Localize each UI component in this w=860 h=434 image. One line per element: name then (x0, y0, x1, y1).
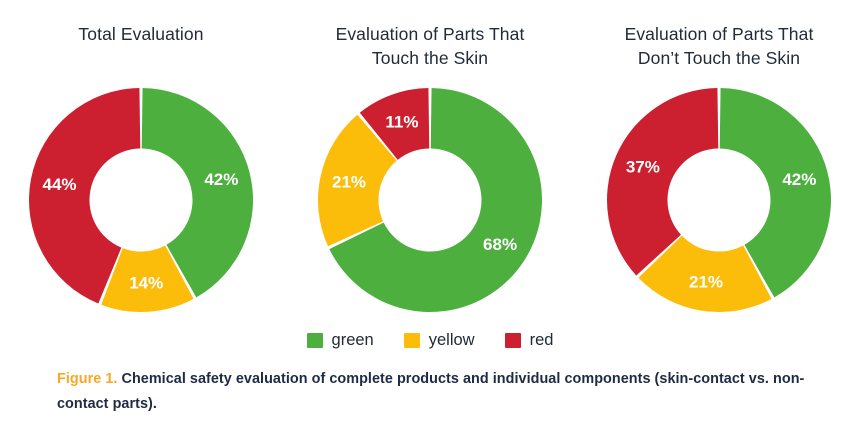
donut-charts-row: Total Evaluation 42%14%44% Evaluation of… (0, 0, 860, 322)
donut-slice-label: 21% (689, 272, 723, 291)
legend-label: yellow (429, 331, 475, 349)
figure-caption: Figure 1. Chemical safety evaluation of … (57, 367, 817, 417)
legend-item-green: green (307, 331, 374, 349)
legend-swatch-green (307, 333, 323, 348)
chart-title: Total Evaluation (16, 22, 266, 46)
legend-swatch-red (505, 333, 521, 348)
legend-swatch-yellow (404, 333, 420, 348)
donut-graphic: 42%21%37% (605, 86, 833, 314)
chart-title: Evaluation of Parts That Don’t Touch the… (594, 22, 844, 70)
figure-caption-label: Figure 1. (57, 371, 117, 387)
donut-slice-label: 42% (782, 170, 816, 189)
donut-slice-label: 14% (129, 273, 163, 292)
donut-slice-label: 42% (204, 170, 238, 189)
legend-label: green (332, 331, 374, 349)
donut-graphic: 42%14%44% (27, 86, 255, 314)
donut-chart-skin-contact-parts: Evaluation of Parts That Touch the Skin … (289, 0, 571, 322)
donut-slice-label: 68% (483, 235, 517, 254)
donut-chart-non-contact-parts: Evaluation of Parts That Don’t Touch the… (578, 0, 860, 322)
donut-slice-red (607, 88, 718, 276)
legend-label: red (530, 331, 554, 349)
donut-slice-label: 21% (332, 172, 366, 191)
figure-caption-text: Chemical safety evaluation of complete p… (57, 371, 804, 412)
chart-legend: green yellow red (0, 331, 860, 349)
donut-slice-label: 11% (385, 112, 418, 131)
donut-slice-label: 44% (42, 175, 76, 194)
legend-item-red: red (505, 331, 554, 349)
chart-title: Evaluation of Parts That Touch the Skin (305, 22, 555, 70)
donut-chart-total-evaluation: Total Evaluation 42%14%44% (0, 0, 282, 322)
donut-graphic: 68%21%11% (316, 86, 544, 314)
legend-item-yellow: yellow (404, 331, 475, 349)
donut-slice-label: 37% (626, 158, 660, 177)
figure-container: Total Evaluation 42%14%44% Evaluation of… (0, 0, 860, 434)
